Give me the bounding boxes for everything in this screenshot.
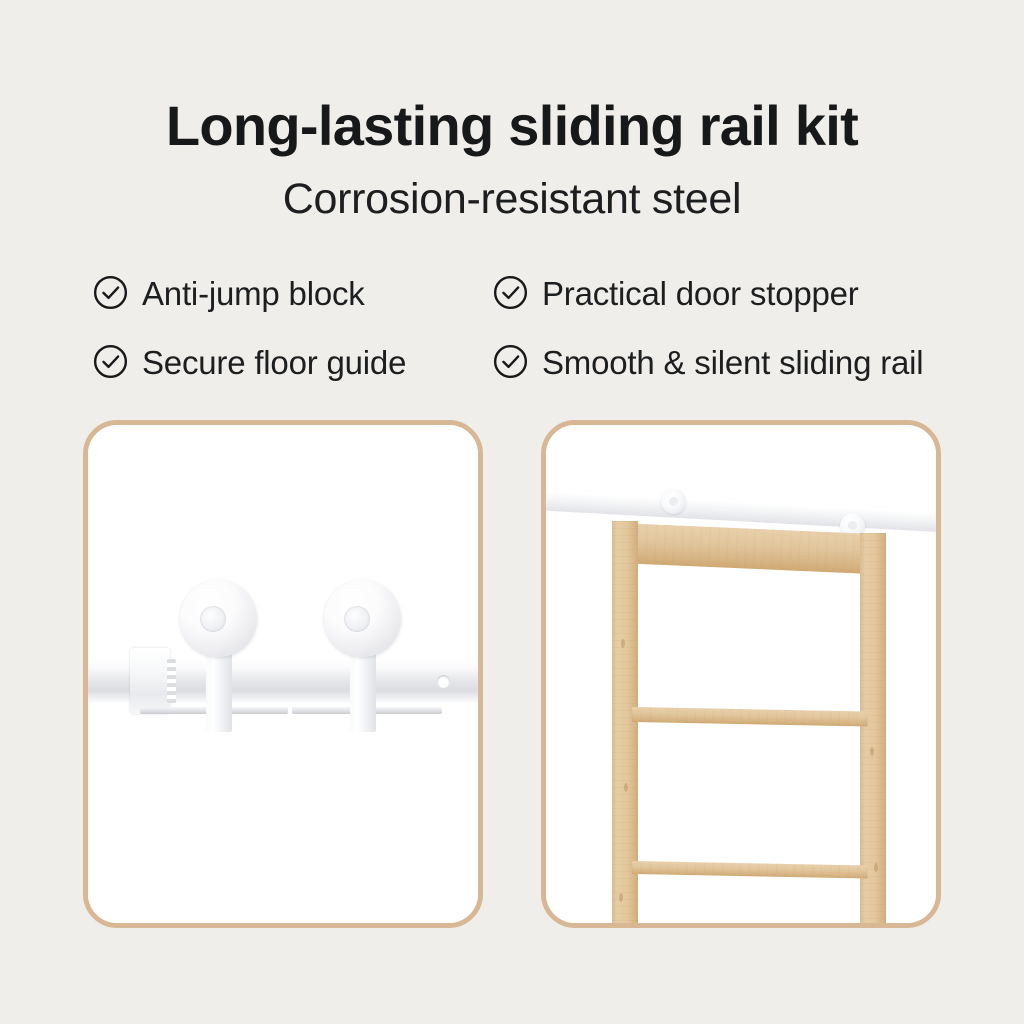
wood-knot bbox=[870, 747, 874, 756]
roller-wheel bbox=[661, 489, 686, 514]
door-stopper-block bbox=[130, 648, 170, 714]
wheel-hub bbox=[200, 606, 226, 632]
frame-top-rail bbox=[618, 523, 876, 574]
wood-knot bbox=[621, 639, 625, 648]
check-circle-icon bbox=[492, 274, 529, 311]
feature-label: Practical door stopper bbox=[542, 277, 859, 310]
check-circle-icon bbox=[92, 343, 129, 380]
feature-item-anti-jump-block: Anti-jump block bbox=[92, 274, 492, 311]
feature-label: Secure floor guide bbox=[142, 346, 406, 379]
installed-door-photo bbox=[546, 425, 936, 923]
wood-knot bbox=[619, 893, 623, 902]
installed-door-photo-card bbox=[541, 420, 941, 928]
rail-mounting-hole bbox=[437, 675, 450, 688]
frame-lower-rail bbox=[632, 861, 868, 879]
feature-item-practical-door-stopper: Practical door stopper bbox=[492, 274, 962, 311]
check-circle-icon bbox=[92, 274, 129, 311]
frame-middle-rail bbox=[632, 707, 868, 727]
rail-hardware-photo-card bbox=[83, 420, 483, 928]
wheel-hub bbox=[344, 606, 370, 632]
infographic-page: Long-lasting sliding rail kit Corrosion-… bbox=[0, 0, 1024, 1024]
page-subtitle: Corrosion-resistant steel bbox=[0, 176, 1024, 223]
wheel-hub bbox=[669, 497, 678, 506]
wood-door-frame bbox=[612, 521, 886, 923]
roller-wheel bbox=[324, 580, 401, 657]
rail-hardware-photo bbox=[88, 425, 478, 923]
wood-knot bbox=[874, 863, 878, 872]
wood-knot bbox=[624, 783, 628, 792]
page-title: Long-lasting sliding rail kit bbox=[0, 96, 1024, 155]
roller-wheel bbox=[180, 580, 257, 657]
stopper-ridges bbox=[167, 659, 176, 703]
feature-item-secure-floor-guide: Secure floor guide bbox=[92, 343, 492, 380]
feature-list: Anti-jump block Practical door stopper S… bbox=[92, 258, 972, 396]
feature-item-smooth-silent-sliding-rail: Smooth & silent sliding rail bbox=[492, 343, 962, 380]
check-circle-icon bbox=[492, 343, 529, 380]
feature-label: Anti-jump block bbox=[142, 277, 365, 310]
feature-label: Smooth & silent sliding rail bbox=[542, 346, 923, 379]
